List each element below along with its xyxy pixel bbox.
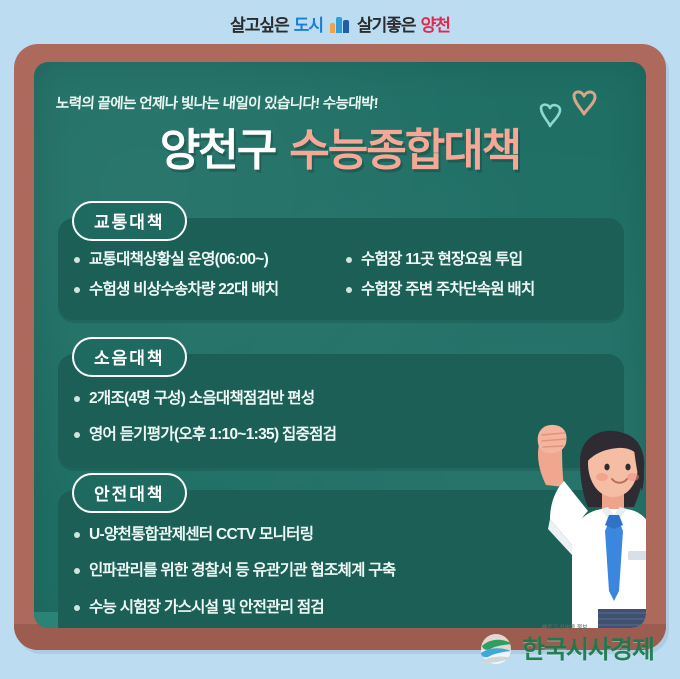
list-item-text: 교통대책상황실 운영(06:00~) — [89, 249, 268, 271]
press-name: 한국시사경제 — [522, 630, 654, 666]
wave-circle-logo-icon — [476, 632, 520, 666]
city-buildings-icon — [330, 13, 350, 33]
bullet-dot-icon — [346, 257, 352, 263]
bullet-dot-icon — [74, 532, 80, 538]
student-raising-fist-illustration — [502, 423, 646, 628]
list-item-text: 수험생 비상수송차량 22대 배치 — [89, 279, 278, 301]
brand-bar: 살고싶은 도시 살기좋은 양천 — [0, 0, 680, 46]
brand-text-2: 도시 — [294, 11, 323, 36]
list-item-text: 수험장 주변 주차단속원 배치 — [361, 279, 535, 301]
list-item-text: 수능 시험장 가스시설 및 안전관리 점검 — [89, 597, 324, 619]
list-item: 수험생 비상수송차량 22대 배치 — [72, 275, 344, 305]
list-item-text: 영어 듣기평가(오후 1:10~1:35) 집중점검 — [89, 424, 336, 446]
chalkboard: 노력의 끝에는 언제나 빛나는 내일이 있습니다! 수능대박! 양천구수능종합대… — [34, 62, 646, 628]
board-subtitle: 노력의 끝에는 언제나 빛나는 내일이 있습니다! 수능대박! — [55, 92, 526, 113]
list-item: 교통대책상황실 운영(06:00~) — [72, 245, 344, 275]
page-title: 양천구수능종합대책 — [34, 114, 646, 178]
bullet-dot-icon — [74, 568, 80, 574]
brand-text-3: 살기좋은 — [357, 11, 416, 36]
title-part-plan: 수능종합대책 — [289, 126, 520, 175]
bullet-dot-icon — [74, 257, 80, 263]
section-label-safety: 안전대책 — [72, 473, 187, 513]
bullet-dot-icon — [74, 396, 80, 402]
list-item: 2개조(4명 구성) 소음대책점검반 편성 — [72, 381, 616, 417]
bullet-dot-icon — [74, 605, 80, 611]
list-item: 수험장 주변 주차단속원 배치 — [344, 275, 616, 305]
section-traffic: 교통대책 교통대책상황실 운영(06:00~) 수험장 11곳 현장요원 투입 … — [58, 218, 624, 320]
list-item: 수험장 11곳 현장요원 투입 — [344, 245, 616, 275]
press-watermark: 빠르고 신속한 정보 한국시사경제 — [476, 623, 666, 671]
list-item-text: 2개조(4명 구성) 소음대책점검반 편성 — [89, 388, 314, 410]
list-item-text: U-양천통합관제센터 CCTV 모니터링 — [89, 524, 313, 546]
section-label-noise: 소음대책 — [72, 337, 187, 377]
bullet-dot-icon — [346, 287, 352, 293]
brand-text-1: 살고싶은 — [230, 11, 289, 36]
brand-text-4: 양천 — [421, 11, 450, 36]
section-label-traffic: 교통대책 — [72, 201, 187, 241]
list-item-text: 인파관리를 위한 경찰서 등 유관기관 협조체계 구축 — [89, 560, 395, 582]
title-part-district: 양천구 — [160, 126, 275, 175]
list-item-text: 수험장 11곳 현장요원 투입 — [361, 249, 522, 271]
heart-doodle-tan-icon — [570, 88, 600, 116]
bullet-dot-icon — [74, 287, 80, 293]
bullet-dot-icon — [74, 432, 80, 438]
